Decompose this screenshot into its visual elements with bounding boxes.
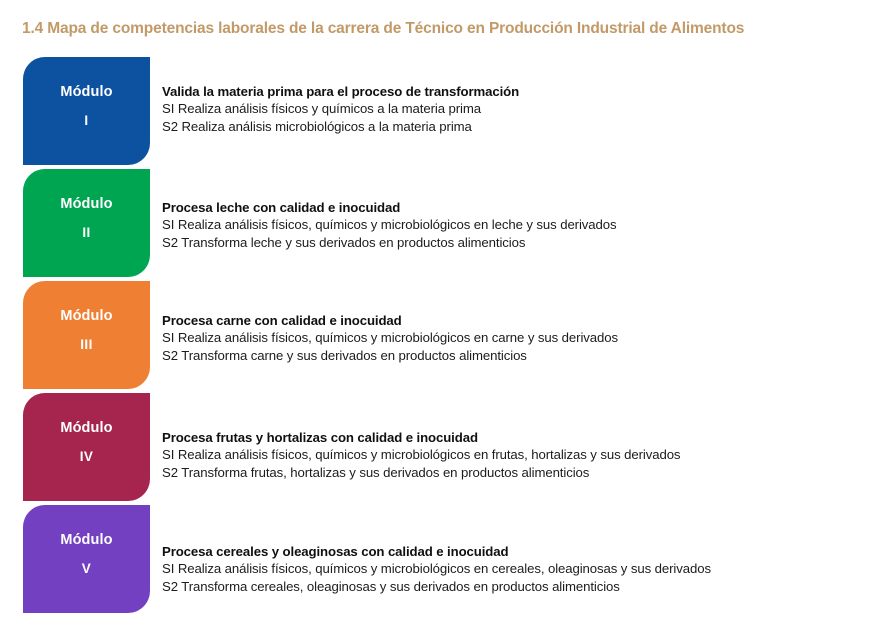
module-competency-line-2: S2 Transforma frutas, hortalizas y sus d… xyxy=(162,464,862,482)
module-heading: Procesa frutas y hortalizas con calidad … xyxy=(162,429,862,446)
module-competency-line-1: SI Realiza análisis físicos, químicos y … xyxy=(162,216,862,234)
module-competency-line-2: S2 Transforma leche y sus derivados en p… xyxy=(162,234,862,252)
module-badge-word: Módulo xyxy=(23,196,150,212)
module-competency-line-2: S2 Transforma carne y sus derivados en p… xyxy=(162,347,862,365)
module-competency-line-1: SI Realiza análisis físicos y químicos a… xyxy=(162,100,862,118)
module-heading: Procesa carne con calidad e inocuidad xyxy=(162,312,862,329)
module-badge-iii: Módulo III xyxy=(23,281,150,389)
module-badge-numeral: II xyxy=(23,225,150,240)
module-competency-line-2: S2 Transforma cereales, oleaginosas y su… xyxy=(162,578,862,596)
module-description-i: Valida la materia prima para el proceso … xyxy=(162,83,862,136)
module-badge-v: Módulo V xyxy=(23,505,150,613)
module-description-iii: Procesa carne con calidad e inocuidad SI… xyxy=(162,312,862,365)
page-title: 1.4 Mapa de competencias laborales de la… xyxy=(22,20,744,38)
module-badge-i: Módulo I xyxy=(23,57,150,165)
module-badge-numeral: I xyxy=(23,113,150,128)
module-badge-numeral: IV xyxy=(23,449,150,464)
module-badge-word: Módulo xyxy=(23,84,150,100)
module-description-v: Procesa cereales y oleaginosas con calid… xyxy=(162,543,862,596)
module-description-iv: Procesa frutas y hortalizas con calidad … xyxy=(162,429,862,482)
module-heading: Procesa cereales y oleaginosas con calid… xyxy=(162,543,862,560)
module-heading: Valida la materia prima para el proceso … xyxy=(162,83,862,100)
module-competency-line-2: S2 Realiza análisis microbiológicos a la… xyxy=(162,118,862,136)
module-competency-line-1: SI Realiza análisis físicos, químicos y … xyxy=(162,560,862,578)
module-badge-word: Módulo xyxy=(23,308,150,324)
module-badge-numeral: III xyxy=(23,337,150,352)
module-badge-ii: Módulo II xyxy=(23,169,150,277)
competency-map-page: 1.4 Mapa de competencias laborales de la… xyxy=(0,0,887,638)
module-badge-word: Módulo xyxy=(23,532,150,548)
module-badge-numeral: V xyxy=(23,561,150,576)
module-description-ii: Procesa leche con calidad e inocuidad SI… xyxy=(162,199,862,252)
module-competency-line-1: SI Realiza análisis físicos, químicos y … xyxy=(162,446,862,464)
module-heading: Procesa leche con calidad e inocuidad xyxy=(162,199,862,216)
module-badge-word: Módulo xyxy=(23,420,150,436)
module-badge-iv: Módulo IV xyxy=(23,393,150,501)
module-competency-line-1: SI Realiza análisis físicos, químicos y … xyxy=(162,329,862,347)
